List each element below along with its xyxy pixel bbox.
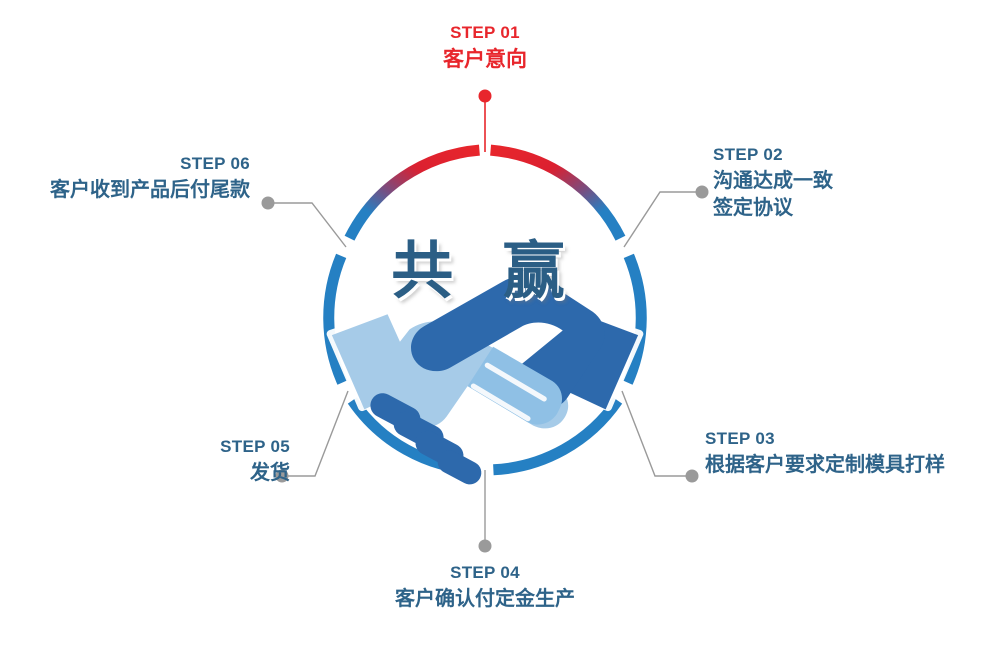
- step-title-03: 根据客户要求定制模具打样: [705, 452, 945, 478]
- step-kicker-04: STEP 04: [385, 562, 585, 583]
- step-label-04[interactable]: STEP 04 客户确认付定金生产: [385, 562, 585, 613]
- step-kicker-01: STEP 01: [385, 22, 585, 43]
- process-diagram: 共 赢 STEP 01 客户意向 STEP 02 沟通达成一致 签定协议 STE…: [0, 0, 1000, 650]
- handshake-icon: [0, 0, 1000, 650]
- center-wordmark: 共 赢: [345, 220, 625, 310]
- step-kicker-06: STEP 06: [0, 153, 250, 174]
- step-title-05: 发货: [60, 460, 290, 486]
- step-label-06[interactable]: STEP 06 客户收到产品后付尾款: [0, 153, 250, 204]
- step-title-02: 沟通达成一致: [713, 168, 833, 194]
- step-label-03[interactable]: STEP 03 根据客户要求定制模具打样: [705, 428, 945, 479]
- step-title-01: 客户意向: [385, 46, 585, 74]
- step-kicker-02: STEP 02: [713, 144, 833, 165]
- step-kicker-05: STEP 05: [60, 436, 290, 457]
- step-title-06: 客户收到产品后付尾款: [0, 177, 250, 203]
- step-title-04: 客户确认付定金生产: [385, 586, 585, 612]
- step-label-05[interactable]: STEP 05 发货: [60, 436, 290, 487]
- step-label-01[interactable]: STEP 01 客户意向: [385, 22, 585, 74]
- step-label-02[interactable]: STEP 02 沟通达成一致 签定协议: [713, 144, 833, 221]
- step-kicker-03: STEP 03: [705, 428, 945, 449]
- step-title-02-line2: 签定协议: [713, 195, 833, 221]
